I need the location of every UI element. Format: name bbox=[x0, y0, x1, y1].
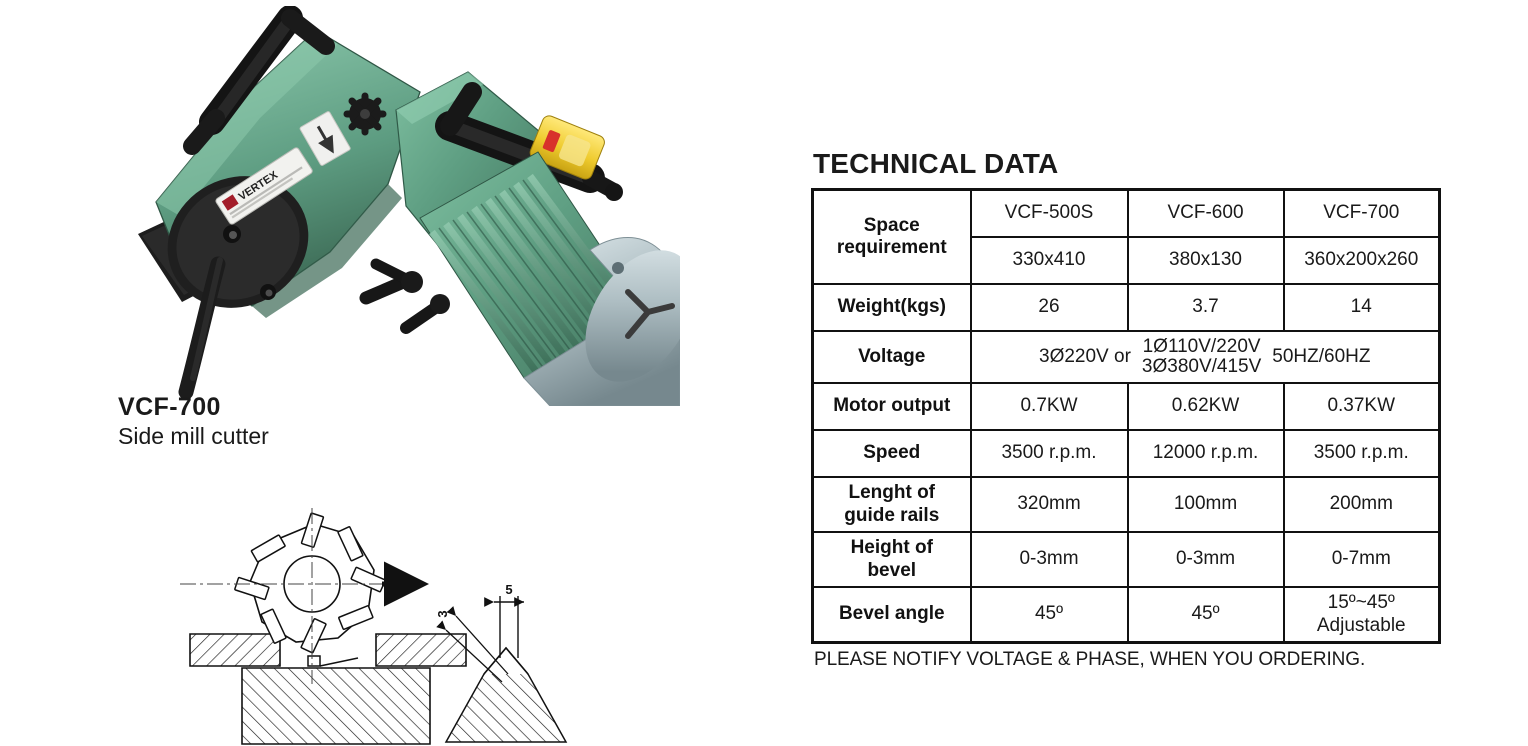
row-label-bevel-angle: Bevel angle bbox=[813, 587, 971, 643]
row-label-line2: guide rails bbox=[814, 505, 970, 527]
row-label-voltage: Voltage bbox=[813, 331, 971, 383]
row-label-line1: Height of bbox=[814, 537, 970, 559]
cell-bevel-height-vcf-600: 0-3mm bbox=[1128, 532, 1284, 587]
cell-bevel-angle-vcf-500s: 45º bbox=[971, 587, 1128, 643]
product-photo: VERTEX bbox=[120, 6, 680, 406]
table-row-motor-output: Motor output 0.7KW 0.62KW 0.37KW bbox=[813, 383, 1440, 430]
clamp-lever bbox=[366, 264, 423, 298]
column-header-vcf-600: VCF-600 bbox=[1128, 190, 1284, 238]
row-label-line1: Space bbox=[814, 215, 970, 237]
row-label-line2: requirement bbox=[814, 237, 970, 259]
cell-guide-rails-vcf-700: 200mm bbox=[1284, 477, 1440, 532]
table-row-speed: Speed 3500 r.p.m. 12000 r.p.m. 3500 r.p.… bbox=[813, 430, 1440, 477]
column-header-vcf-500s: VCF-500S bbox=[971, 190, 1128, 238]
row-label-guide-rails: Lenght of guide rails bbox=[813, 477, 971, 532]
cell-weight-vcf-600: 3.7 bbox=[1128, 284, 1284, 331]
cell-speed-vcf-600: 12000 r.p.m. bbox=[1128, 430, 1284, 477]
workpiece-section bbox=[190, 634, 466, 744]
table-row-guide-rails: Lenght of guide rails 320mm 100mm 200mm bbox=[813, 477, 1440, 532]
row-label-weight: Weight(kgs) bbox=[813, 284, 971, 331]
voltage-part-1: 3Ø220V or bbox=[1039, 346, 1131, 368]
bevel-angle-range: 15º~45º bbox=[1285, 592, 1439, 614]
bevel-angle-adjustable: Adjustable bbox=[1285, 615, 1439, 637]
adjust-knob-upper bbox=[347, 96, 383, 132]
table-row-bevel-angle: Bevel angle 45º 45º 15º~45º Adjustable bbox=[813, 587, 1440, 643]
cell-space-requirement-vcf-700: 360x200x260 bbox=[1284, 237, 1440, 284]
row-label-line1: Lenght of bbox=[814, 482, 970, 504]
row-label-line2: bevel bbox=[814, 560, 970, 582]
row-label-bevel-height: Height of bevel bbox=[813, 532, 971, 587]
cell-bevel-height-vcf-700: 0-7mm bbox=[1284, 532, 1440, 587]
cell-space-requirement-vcf-500s: 330x410 bbox=[971, 237, 1128, 284]
dimension-label-3: 3 bbox=[435, 610, 450, 617]
voltage-part-2-line2: 3Ø380V/415V bbox=[1142, 357, 1261, 377]
cell-weight-vcf-700: 14 bbox=[1284, 284, 1440, 331]
table-row-bevel-height: Height of bevel 0-3mm 0-3mm 0-7mm bbox=[813, 532, 1440, 587]
cutting-operation-diagram: 5 3 bbox=[168, 506, 618, 746]
row-label-speed: Speed bbox=[813, 430, 971, 477]
product-caption: VCF-700 Side mill cutter bbox=[118, 393, 498, 451]
column-header-vcf-700: VCF-700 bbox=[1284, 190, 1440, 238]
clamp-lever-2 bbox=[406, 294, 450, 328]
technical-data-table: Space requirement VCF-500S VCF-600 VCF-7… bbox=[811, 188, 1441, 644]
technical-data-panel: TECHNICAL DATA Space requirement VCF-500… bbox=[811, 148, 1439, 671]
cell-weight-vcf-500s: 26 bbox=[971, 284, 1128, 331]
product-photo-artwork: VERTEX bbox=[138, 18, 680, 406]
dimension-label-5: 5 bbox=[505, 582, 512, 597]
voltage-part-2-line1: 1Ø110V/220V bbox=[1142, 337, 1261, 357]
spec-footnote: PLEASE NOTIFY VOLTAGE & PHASE, WHEN YOU … bbox=[814, 649, 1439, 671]
cell-guide-rails-vcf-500s: 320mm bbox=[971, 477, 1128, 532]
voltage-part-2: 1Ø110V/220V 3Ø380V/415V bbox=[1142, 337, 1261, 377]
voltage-part-3: 50HZ/60HZ bbox=[1272, 346, 1370, 368]
product-model: VCF-700 bbox=[118, 393, 498, 421]
product-subtitle: Side mill cutter bbox=[118, 423, 498, 451]
cell-guide-rails-vcf-600: 100mm bbox=[1128, 477, 1284, 532]
cell-motor-output-vcf-700: 0.37KW bbox=[1284, 383, 1440, 430]
cell-bevel-angle-vcf-700: 15º~45º Adjustable bbox=[1284, 587, 1440, 643]
cell-voltage-merged: 3Ø220V or 1Ø110V/220V 3Ø380V/415V 50HZ/6… bbox=[971, 331, 1440, 383]
spec-title: TECHNICAL DATA bbox=[813, 148, 1439, 180]
cell-speed-vcf-500s: 3500 r.p.m. bbox=[971, 430, 1128, 477]
cell-space-requirement-vcf-600: 380x130 bbox=[1128, 237, 1284, 284]
table-row-voltage: Voltage 3Ø220V or 1Ø110V/220V 3Ø380V/415… bbox=[813, 331, 1440, 383]
cell-motor-output-vcf-600: 0.62KW bbox=[1128, 383, 1284, 430]
cell-bevel-angle-vcf-600: 45º bbox=[1128, 587, 1284, 643]
cell-speed-vcf-700: 3500 r.p.m. bbox=[1284, 430, 1440, 477]
table-row-weight: Weight(kgs) 26 3.7 14 bbox=[813, 284, 1440, 331]
cell-motor-output-vcf-500s: 0.7KW bbox=[971, 383, 1128, 430]
row-label-space-requirement: Space requirement bbox=[813, 190, 971, 285]
row-label-motor-output: Motor output bbox=[813, 383, 971, 430]
cell-bevel-height-vcf-500s: 0-3mm bbox=[971, 532, 1128, 587]
table-row-header: Space requirement VCF-500S VCF-600 VCF-7… bbox=[813, 190, 1440, 238]
